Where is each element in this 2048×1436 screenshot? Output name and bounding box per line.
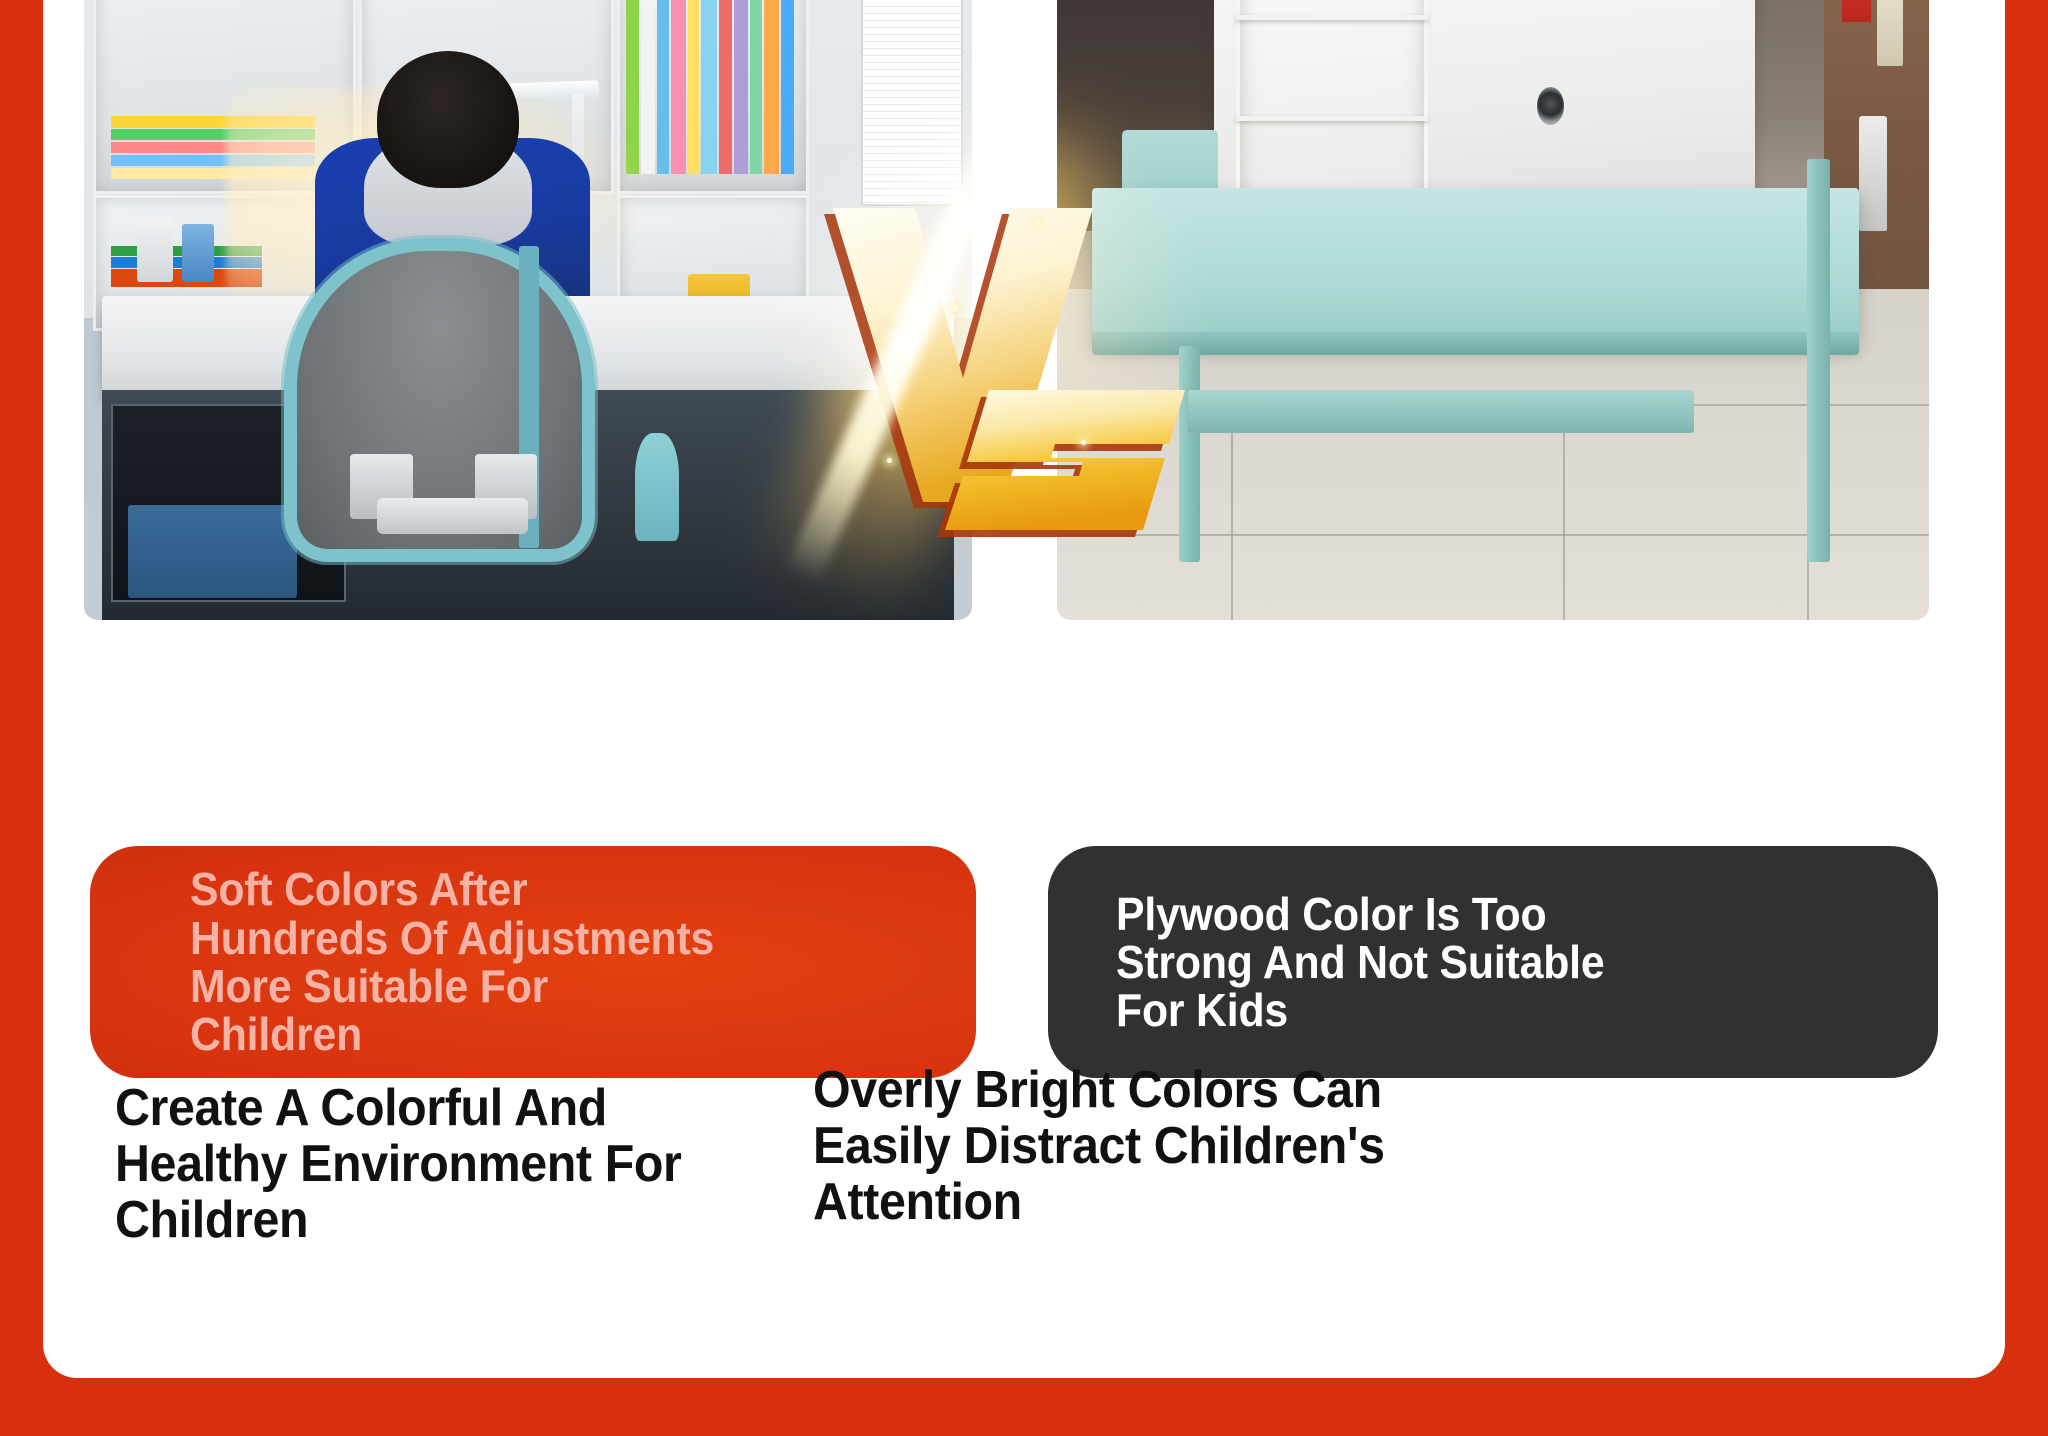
desk-leg xyxy=(1807,159,1830,562)
book xyxy=(657,0,669,174)
hutch-shelf-divider xyxy=(1236,116,1428,121)
book xyxy=(764,0,779,174)
book xyxy=(671,0,686,174)
child-figure-head xyxy=(377,51,519,188)
desk-front-edge xyxy=(1092,332,1859,355)
book xyxy=(750,0,762,174)
shelf-item-bottle xyxy=(1859,116,1887,231)
desk-leg xyxy=(1179,346,1200,562)
shelf-item-bottle xyxy=(1877,0,1903,66)
pen-cup xyxy=(137,217,173,282)
book xyxy=(734,0,748,174)
badge-plywood-color: Plywood Color Is Too Strong And Not Suit… xyxy=(1048,846,1938,1078)
versus-spark xyxy=(1035,220,1040,225)
heading-create-colorful-environment: Create A Colorful And Healthy Environmen… xyxy=(115,1080,822,1248)
cable-grommet-hole xyxy=(1537,87,1564,124)
tile-grout-line xyxy=(1563,404,1565,620)
left-photo-scene xyxy=(84,0,972,620)
content-card: Soft Colors After Hundreds Of Adjustment… xyxy=(43,0,2005,1378)
pen-cup xyxy=(182,224,214,282)
blue-storage-crate xyxy=(128,505,297,599)
book xyxy=(701,0,717,174)
chair-footrest xyxy=(635,433,679,541)
photo-comparison-row xyxy=(43,0,2005,620)
book xyxy=(688,0,700,174)
book xyxy=(641,0,655,174)
badge-soft-colors: Soft Colors After Hundreds Of Adjustment… xyxy=(90,846,976,1078)
shelf-item-bottle xyxy=(1842,0,1872,22)
hutch-shelf-divider xyxy=(1236,15,1428,20)
teal-desk-top xyxy=(1092,188,1859,346)
book xyxy=(781,0,794,174)
photo-soft-color-desk xyxy=(84,0,972,620)
chair-base xyxy=(377,498,528,534)
right-photo-scene xyxy=(1057,0,1929,620)
heading-overly-bright-colors: Overly Bright Colors Can Easily Distract… xyxy=(813,1062,1520,1230)
wall-chart-poster xyxy=(861,0,963,206)
badge-soft-colors-text: Soft Colors After Hundreds Of Adjustment… xyxy=(190,865,714,1058)
tile-grout-line xyxy=(1231,404,1233,620)
badge-plywood-color-text: Plywood Color Is Too Strong And Not Suit… xyxy=(1116,890,1604,1035)
desk-cross-bench xyxy=(1188,390,1694,433)
book xyxy=(719,0,732,174)
photo-plywood-desk xyxy=(1057,0,1929,620)
comparison-banner: Soft Colors After Hundreds Of Adjustment… xyxy=(0,0,2048,1436)
